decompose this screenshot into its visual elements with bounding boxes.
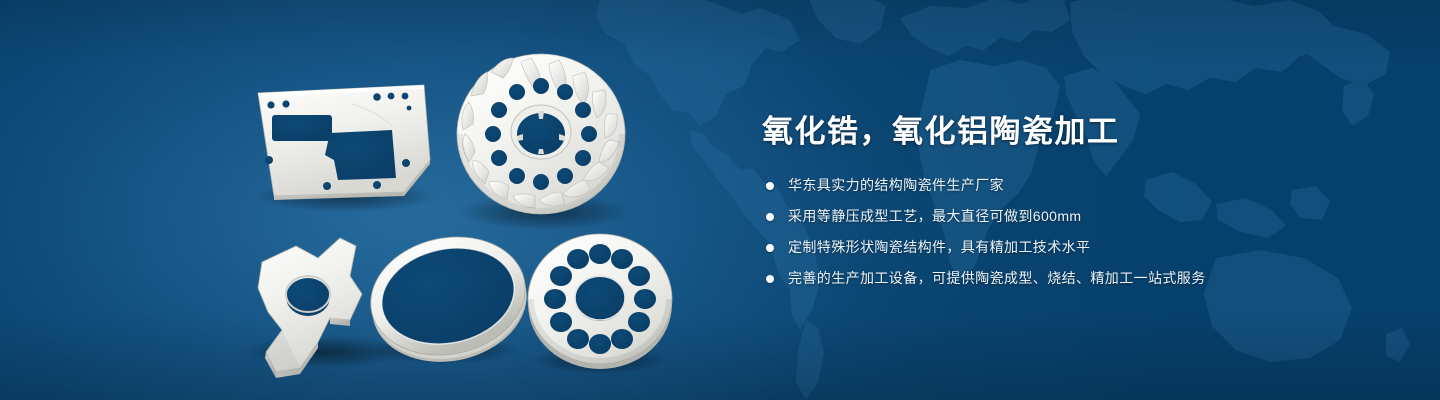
banner-copy: 氧化锆，氧化铝陶瓷加工 华东具实力的结构陶瓷件生产厂家 采用等静压成型工艺，最大…	[762, 112, 1382, 298]
ceramic-impeller-disc	[457, 54, 625, 214]
list-item: 华东具实力的结构陶瓷件生产厂家	[766, 174, 1382, 197]
list-item-label: 华东具实力的结构陶瓷件生产厂家	[788, 177, 1004, 193]
ceramic-mounting-plate	[258, 85, 430, 200]
ceramic-processing-banner: 氧化锆，氧化铝陶瓷加工 华东具实力的结构陶瓷件生产厂家 采用等静压成型工艺，最大…	[0, 0, 1440, 400]
list-item-label: 完善的生产加工设备，可提供陶瓷成型、烧结、精加工一站式服务	[788, 270, 1206, 286]
ceramic-products-image	[0, 0, 760, 400]
list-item: 采用等静压成型工艺，最大直径可做到600mm	[766, 205, 1382, 228]
bullet-marker-icon	[766, 182, 774, 190]
feature-list: 华东具实力的结构陶瓷件生产厂家 采用等静压成型工艺，最大直径可做到600mm 定…	[766, 174, 1382, 290]
list-item: 完善的生产加工设备，可提供陶瓷成型、烧结、精加工一站式服务	[766, 267, 1382, 290]
bullet-marker-icon	[766, 213, 774, 221]
list-item-label: 定制特殊形状陶瓷结构件，具有精加工技术水平	[788, 239, 1090, 255]
bullet-marker-icon	[766, 244, 774, 252]
bullet-marker-icon	[766, 275, 774, 283]
list-item: 定制特殊形状陶瓷结构件，具有精加工技术水平	[766, 236, 1382, 259]
ceramic-perforated-ring-plate	[528, 234, 672, 369]
list-item-label: 采用等静压成型工艺，最大直径可做到600mm	[788, 208, 1081, 224]
page-title: 氧化锆，氧化铝陶瓷加工	[762, 112, 1382, 152]
